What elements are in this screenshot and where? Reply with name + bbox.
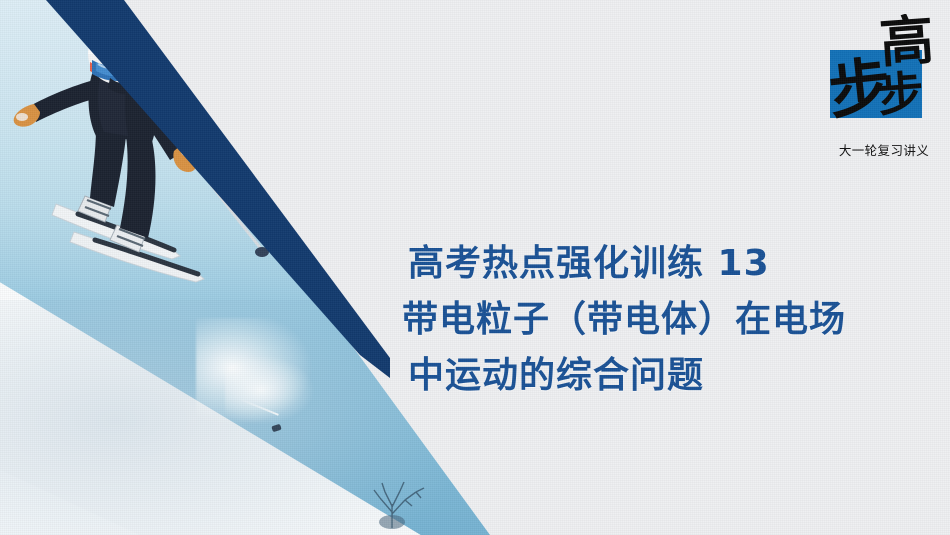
slide-title: 高考热点强化训练 13 带电粒子（带电体）在电场 中运动的综合问题: [400, 236, 930, 404]
logo-subtitle: 大一轮复习讲义: [828, 140, 940, 159]
title-line-3: 中运动的综合问题: [408, 348, 930, 404]
navy-diagonal-stripe: [0, 0, 450, 400]
svg-text:步: 步: [876, 66, 926, 123]
title-line-2: 带电粒子（带电体）在电场: [402, 292, 930, 348]
brand-logo: 高 步 步 大一轮复习讲义: [828, 14, 946, 159]
title-line-1: 高考热点强化训练 13: [408, 236, 930, 292]
title-slide: 高 步 步 大一轮复习讲义 高考热点强化训练 13 带电粒子（带电体）在电场 中…: [0, 0, 950, 535]
gaobubu-logo-icon: 高 步 步: [828, 14, 940, 126]
bush-icon: [372, 470, 442, 530]
